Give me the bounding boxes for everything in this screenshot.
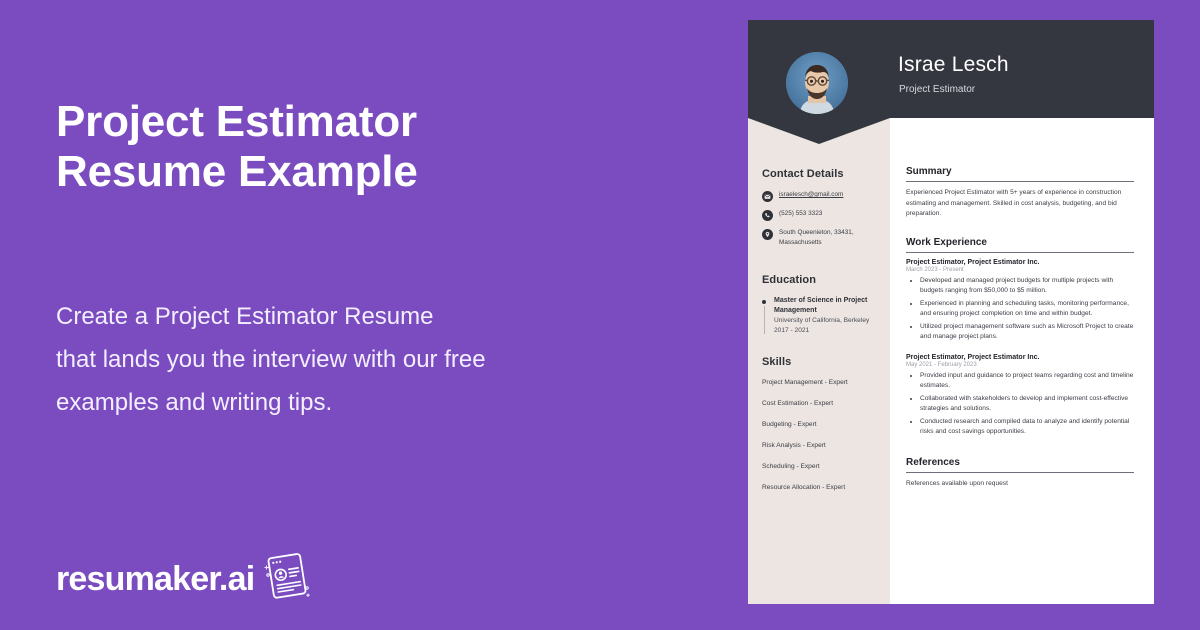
resume-card-icon xyxy=(258,548,314,609)
section-divider xyxy=(906,181,1134,182)
contact-heading: Contact Details xyxy=(762,168,876,180)
page-title: Project Estimator Resume Example xyxy=(56,97,676,197)
references-text: References available upon request xyxy=(906,479,1134,490)
location-pin-icon xyxy=(762,229,773,240)
section-divider xyxy=(906,252,1134,253)
resume-preview[interactable]: Israe Lesch Project Estimator Contact De… xyxy=(748,20,1154,604)
work-experience-heading: Work Experience xyxy=(906,237,1134,248)
education-dates: 2017 - 2021 xyxy=(774,326,876,336)
job-dates: March 2023 - Present xyxy=(906,267,1134,273)
envelope-icon xyxy=(762,191,773,202)
contact-phone-row[interactable]: (525) 553 3323 xyxy=(762,209,876,221)
job-dates: May 2021 - February 2023 xyxy=(906,362,1134,368)
job-entry: Project Estimator, Project Estimator Inc… xyxy=(906,354,1134,438)
job-bullet: Experienced in planning and scheduling t… xyxy=(920,299,1134,320)
skill-item: Scheduling - Expert xyxy=(762,462,876,472)
education-heading: Education xyxy=(762,274,876,286)
resume-role: Project Estimator xyxy=(899,84,975,95)
promo-content: Project Estimator Resume Example Create … xyxy=(56,0,696,630)
job-title: Project Estimator, Project Estimator Inc… xyxy=(906,354,1134,361)
job-entry: Project Estimator, Project Estimator Inc… xyxy=(906,259,1134,343)
bullet-dot-icon xyxy=(762,300,766,304)
phone-icon xyxy=(762,210,773,221)
references-heading: References xyxy=(906,457,1134,468)
job-title: Project Estimator, Project Estimator Inc… xyxy=(906,259,1134,266)
job-bullet: Developed and managed project budgets fo… xyxy=(920,276,1134,297)
contact-email[interactable]: israelesch@gmail.com xyxy=(779,190,843,200)
contact-address-row: South Queenieton, 33431, Massachusetts xyxy=(762,228,876,247)
education-degree: Master of Science in Project Management xyxy=(774,296,876,316)
resume-sidebar: Contact Details israelesch@gmail.com (52… xyxy=(748,118,890,504)
skill-item: Budgeting - Expert xyxy=(762,420,876,430)
avatar xyxy=(786,52,848,114)
job-bullet: Collaborated with stakeholders to develo… xyxy=(920,394,1134,415)
skill-item: Cost Estimation - Expert xyxy=(762,399,876,409)
brand-logo[interactable]: resumaker.ai xyxy=(56,548,314,609)
education-school: University of California, Berkeley xyxy=(774,316,876,326)
skill-item: Risk Analysis - Expert xyxy=(762,441,876,451)
skills-heading: Skills xyxy=(762,356,876,368)
skill-item: Project Management - Expert xyxy=(762,378,876,388)
resume-header: Israe Lesch Project Estimator xyxy=(748,20,1154,118)
promo-subtitle: Create a Project Estimator Resume that l… xyxy=(56,295,616,424)
timeline-rule xyxy=(764,306,765,334)
brand-name: resumaker.ai xyxy=(56,559,254,599)
job-bullets: Provided input and guidance to project t… xyxy=(906,371,1134,438)
summary-heading: Summary xyxy=(906,166,1134,177)
contact-phone: (525) 553 3323 xyxy=(779,209,822,219)
contact-email-row[interactable]: israelesch@gmail.com xyxy=(762,190,876,202)
contact-address: South Queenieton, 33431, Massachusetts xyxy=(779,228,876,247)
job-bullet: Provided input and guidance to project t… xyxy=(920,371,1134,392)
promo-banner: Project Estimator Resume Example Create … xyxy=(0,0,1200,630)
education-item: Master of Science in Project Management … xyxy=(762,296,876,336)
resume-main: Summary Experienced Project Estimator wi… xyxy=(890,118,1154,489)
resume-name: Israe Lesch xyxy=(898,53,1009,77)
section-divider xyxy=(906,472,1134,473)
summary-text: Experienced Project Estimator with 5+ ye… xyxy=(906,188,1134,220)
job-bullet: Conducted research and compiled data to … xyxy=(920,417,1134,438)
skill-item: Resource Allocation - Expert xyxy=(762,483,876,493)
job-bullets: Developed and managed project budgets fo… xyxy=(906,276,1134,343)
job-bullet: Utilized project management software suc… xyxy=(920,322,1134,343)
